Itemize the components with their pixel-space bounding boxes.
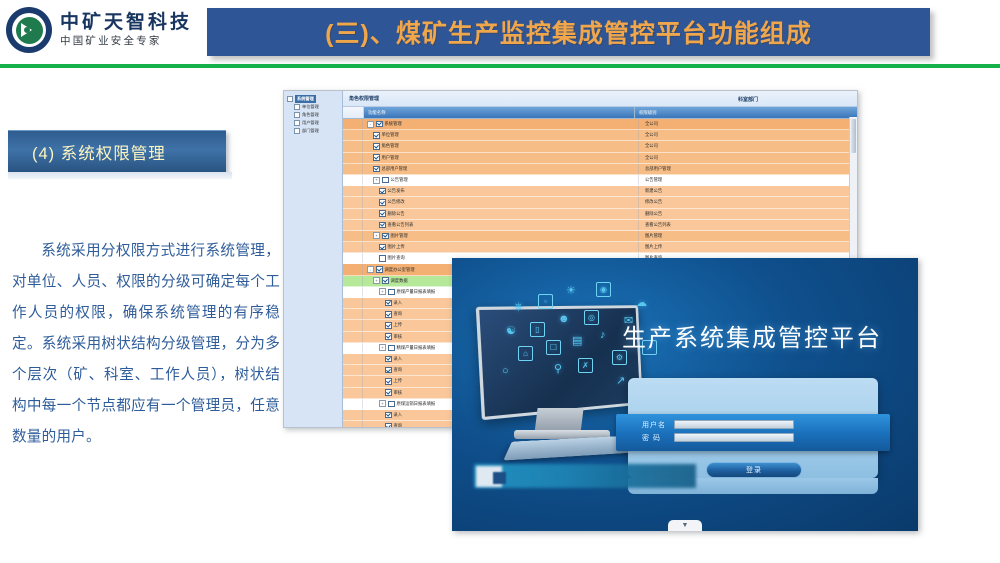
row-gutter (343, 421, 363, 427)
sidebar-tree-item-label: 部门管理 (302, 127, 319, 135)
username-label: 用户名 (642, 420, 668, 430)
row-gutter (343, 119, 363, 129)
cell-function-name-label: 录入 (394, 356, 403, 362)
login-button[interactable]: 登录 (706, 462, 802, 478)
login-splash-image: ⎈ ▫ ☀ ◉ ☯ ▯ ☻ ◎ ⌂ ☐ ▤ ♪ ✉ ⚲ ○ ✗ ⚙ ☁ ↗ ↗ … (452, 258, 918, 531)
permission-checkbox[interactable] (382, 177, 389, 184)
cell-permission-level: 查看公告列表 (639, 220, 857, 230)
cell-function-name: 查看公告列表 (363, 220, 639, 230)
permission-checkbox[interactable] (373, 166, 380, 173)
expand-icon[interactable]: + (379, 344, 386, 351)
column-header-gutter (343, 107, 364, 118)
app-toolbar-title: 角色权限管理 (349, 95, 379, 102)
permission-checkbox[interactable] (388, 289, 395, 296)
blurred-watermark-bar (474, 464, 696, 488)
cell-permission-level: 新建公告 (639, 186, 857, 196)
tree-expander-icon[interactable] (294, 112, 300, 118)
username-input[interactable] (674, 420, 794, 430)
row-gutter (343, 276, 363, 286)
cell-function-name: 角色管理 (363, 141, 639, 151)
cell-function-name-label: 录入 (394, 412, 403, 418)
tree-expander-icon[interactable] (294, 104, 300, 110)
cell-permission-level: 总部用户管理 (639, 164, 857, 174)
cell-function-name: +图片管理 (363, 231, 639, 241)
row-gutter (343, 287, 363, 297)
table-row[interactable]: 公告发布新建公告 (343, 186, 857, 197)
permission-checkbox[interactable] (385, 322, 392, 329)
cell-function-name-label: 角色管理 (382, 143, 399, 149)
sidebar-tree-item[interactable]: 部门管理 (287, 127, 340, 135)
column-header-level[interactable]: 权限级别 (635, 107, 857, 118)
brand-logo: 中矿天智科技 中国矿业安全专家 (6, 4, 196, 56)
body-paragraph: 系统采用分权限方式进行系统管理，对单位、人员、权限的分级可确定每个工作人员的权限… (12, 236, 280, 453)
row-gutter (343, 220, 363, 230)
expand-icon[interactable]: + (373, 277, 380, 284)
slide-title-bar: (三)、煤矿生产监控集成管控平台功能组成 (207, 8, 930, 56)
cell-function-name-label: 图片管理 (391, 233, 408, 239)
expand-icon[interactable]: + (379, 288, 386, 295)
cell-permission-level: 图片上传 (639, 242, 857, 252)
sidebar-tree-item-label: 角色管理 (302, 111, 319, 119)
cell-function-name-label: 图片上传 (388, 244, 405, 250)
expand-icon[interactable]: + (373, 177, 380, 184)
row-gutter (343, 320, 363, 330)
row-gutter (343, 343, 363, 353)
row-gutter (343, 253, 363, 263)
permission-checkbox[interactable] (385, 300, 392, 307)
row-gutter (343, 376, 363, 386)
permission-checkbox[interactable] (373, 132, 380, 139)
permission-checkbox[interactable] (379, 210, 386, 217)
page-title: (三)、煤矿生产监控集成管控平台功能组成 (325, 14, 812, 50)
cell-function-name: 总部用户管理 (363, 164, 639, 174)
table-row[interactable]: 删除公告删除公告 (343, 209, 857, 220)
section-badge-label: (4) 系统权限管理 (8, 140, 166, 164)
password-input[interactable] (674, 433, 794, 443)
password-label: 密 码 (642, 433, 668, 443)
sidebar-tree-item-label: 用户管理 (302, 119, 319, 127)
slide-canvas: 中矿天智科技 中国矿业安全专家 (三)、煤矿生产监控集成管控平台功能组成 (4)… (0, 0, 1000, 563)
permission-checkbox[interactable] (382, 277, 389, 284)
username-row: 用户名 (642, 418, 890, 431)
row-gutter (343, 388, 363, 398)
cell-function-name-label: 调度数据 (391, 278, 408, 284)
permission-checkbox[interactable] (379, 222, 386, 229)
password-row: 密 码 (642, 431, 890, 444)
row-gutter (343, 175, 363, 185)
cell-function-name-label: 查询 (394, 367, 403, 373)
cell-function-name-label: 审核 (394, 390, 403, 396)
cell-function-name-label: 查看公告列表 (388, 222, 414, 228)
sidebar-tree-item-label: 系统管理 (295, 95, 316, 103)
tree-expander-icon[interactable] (294, 128, 300, 134)
permission-checkbox[interactable] (376, 266, 383, 273)
cell-function-name-label: 上传 (394, 378, 403, 384)
permission-checkbox[interactable] (379, 199, 386, 206)
permission-checkbox[interactable] (373, 143, 380, 150)
brand-text: 中矿天智科技 中国矿业安全专家 (60, 12, 192, 49)
cell-permission-level: 全公司 (639, 130, 857, 140)
permission-checkbox[interactable] (388, 345, 395, 352)
column-header-name[interactable]: 功能名称 (364, 107, 635, 118)
dept-header-label: 科室部门 (639, 92, 857, 107)
table-row[interactable]: +公告管理公告管理 (343, 175, 857, 186)
cell-function-name-label: 公告发布 (388, 188, 405, 194)
cell-function-name: 图片上传 (363, 242, 639, 252)
cell-function-name: -系统管理 (363, 119, 639, 129)
row-gutter (343, 354, 363, 364)
permission-checkbox[interactable] (382, 233, 389, 240)
collapse-icon[interactable]: - (367, 121, 374, 128)
table-row[interactable]: 角色管理全公司 (343, 141, 857, 152)
row-gutter (343, 197, 363, 207)
row-gutter (343, 186, 363, 196)
permission-checkbox[interactable] (376, 121, 383, 128)
cell-function-name-label: 精煤产量日报表填报 (397, 345, 436, 351)
table-header-row: 功能名称 权限级别 科室部门 (343, 107, 857, 119)
permission-checkbox[interactable] (385, 356, 392, 363)
row-gutter (343, 130, 363, 140)
sidebar-tree-item[interactable]: 系统管理 (287, 95, 340, 103)
row-gutter (343, 231, 363, 241)
tree-expander-icon[interactable] (287, 96, 293, 102)
cell-function-name-label: 审核 (394, 334, 403, 340)
platform-title: 生产系统集成管控平台 (612, 318, 892, 353)
login-panel: 用户名 密 码 登录 (628, 378, 878, 478)
table-row[interactable]: +图片管理图片管理 (343, 231, 857, 242)
row-gutter (343, 410, 363, 420)
sidebar-tree-item-label: 单位管理 (302, 103, 319, 111)
cell-function-name-label: 单位管理 (382, 132, 399, 138)
permission-checkbox[interactable] (388, 401, 395, 408)
app-sidebar-tree[interactable]: 系统管理单位管理角色管理用户管理部门管理 (284, 91, 343, 427)
permission-checkbox[interactable] (379, 244, 386, 251)
tree-expander-icon[interactable] (294, 120, 300, 126)
table-row[interactable]: 公告修改修改公告 (343, 197, 857, 208)
cell-permission-level: 全公司 (639, 153, 857, 163)
scrollbar-thumb[interactable] (851, 119, 856, 153)
row-gutter (343, 332, 363, 342)
header-divider (0, 64, 1000, 68)
cell-function-name-label: 查询 (394, 423, 403, 427)
row-gutter (343, 242, 363, 252)
row-gutter (343, 164, 363, 174)
brand-tagline: 中国矿业安全专家 (60, 35, 192, 48)
cell-function-name: 公告修改 (363, 197, 639, 207)
cell-function-name-label: 录入 (394, 300, 403, 306)
row-gutter (343, 365, 363, 375)
table-row[interactable]: 图片上传图片上传 (343, 242, 857, 253)
table-row[interactable]: 查看公告列表查看公告列表 (343, 220, 857, 231)
cell-permission-level: 图片管理 (639, 231, 857, 241)
permission-checkbox[interactable] (385, 412, 392, 419)
expand-icon[interactable]: + (373, 232, 380, 239)
cell-permission-level: 修改公告 (639, 197, 857, 207)
cell-permission-level: 全公司 (639, 141, 857, 151)
cell-function-name-label: 系统管理 (385, 121, 402, 127)
row-gutter (343, 399, 363, 409)
permission-checkbox[interactable] (385, 378, 392, 385)
cell-function-name-label: 公告修改 (388, 199, 405, 205)
cell-function-name: 单位管理 (363, 130, 639, 140)
row-gutter (343, 153, 363, 163)
cell-function-name-label: 总部用户管理 (382, 166, 408, 172)
cell-function-name-label: 图片查询 (388, 255, 405, 261)
permission-checkbox[interactable] (385, 423, 392, 427)
table-row[interactable]: -系统管理全公司 (343, 119, 857, 130)
sidebar-tree-item[interactable]: 用户管理 (287, 119, 340, 127)
permission-checkbox[interactable] (385, 311, 392, 318)
globe-icon: ☀ (566, 286, 576, 297)
table-row[interactable]: 用户管理全公司 (343, 153, 857, 164)
sidebar-tree-item[interactable]: 单位管理 (287, 103, 340, 111)
table-row[interactable]: 总部用户管理总部用户管理 (343, 164, 857, 175)
blurred-watermark-block-2 (493, 472, 506, 484)
cell-function-name-label: 查询 (394, 311, 403, 317)
permission-checkbox[interactable] (379, 255, 386, 262)
section-badge-shadow (8, 172, 232, 179)
table-row[interactable]: 单位管理全公司 (343, 130, 857, 141)
chevron-down-icon[interactable]: ▼ (668, 520, 702, 531)
cell-permission-level: 公告管理 (639, 175, 857, 185)
cell-function-name-label: 上传 (394, 322, 403, 328)
cell-function-name: +公告管理 (363, 175, 639, 185)
permission-checkbox[interactable] (373, 154, 380, 161)
cell-permission-level: 删除公告 (639, 209, 857, 219)
sidebar-tree-item[interactable]: 角色管理 (287, 111, 340, 119)
section-badge: (4) 系统权限管理 (8, 130, 226, 173)
cell-function-name-label: 原煤产量日报表填报 (397, 289, 436, 295)
row-gutter (343, 309, 363, 319)
cell-function-name-label: 原煤运销日报表填报 (397, 401, 436, 407)
brand-name: 中矿天智科技 (60, 12, 192, 34)
expand-icon[interactable]: + (379, 400, 386, 407)
circular-emblem-icon (6, 7, 52, 53)
camera-icon: ◉ (596, 282, 611, 297)
login-fields-strip: 用户名 密 码 (616, 414, 890, 451)
collapse-icon[interactable]: - (367, 266, 374, 273)
cell-function-name-label: 调度办公室管理 (385, 267, 415, 273)
row-gutter (343, 298, 363, 308)
cell-function-name-label: 公告管理 (391, 177, 408, 183)
cell-function-name: 用户管理 (363, 153, 639, 163)
permission-checkbox[interactable] (385, 367, 392, 374)
row-gutter (343, 264, 363, 274)
permission-checkbox[interactable] (385, 389, 392, 396)
cell-function-name: 删除公告 (363, 209, 639, 219)
permission-checkbox[interactable] (379, 188, 386, 195)
row-gutter (343, 141, 363, 151)
permission-checkbox[interactable] (385, 333, 392, 340)
cell-permission-level: 全公司 (639, 119, 857, 129)
row-gutter (343, 209, 363, 219)
cell-function-name: 公告发布 (363, 186, 639, 196)
cell-function-name-label: 删除公告 (388, 211, 405, 217)
cell-function-name-label: 用户管理 (382, 155, 399, 161)
